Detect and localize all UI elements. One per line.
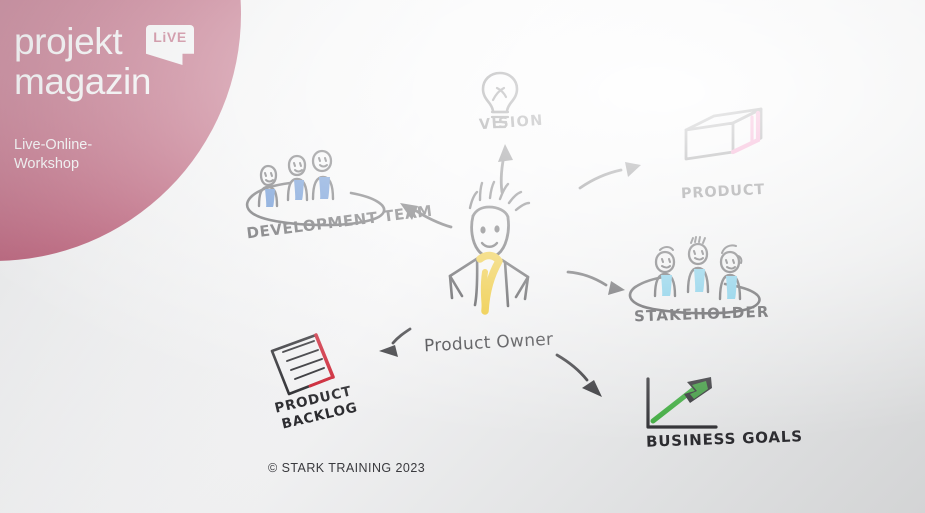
- arrow-to-stakeholder: [568, 272, 625, 295]
- product-cube-icon: [686, 109, 761, 159]
- business-goals-icon: [648, 377, 716, 427]
- slide-canvas: projekt magazin LiVE Live-Online- Worksh…: [0, 0, 925, 513]
- arrow-to-business-goals: [557, 355, 602, 397]
- stakeholder-icon: [630, 237, 760, 313]
- copyright-notice: © STARK TRAINING 2023: [268, 461, 425, 475]
- product-owner-figure-icon: [450, 182, 529, 311]
- arrow-to-product-backlog: [379, 329, 410, 357]
- product-backlog-icon: [272, 335, 333, 394]
- arrow-to-product: [580, 162, 641, 188]
- arrow-to-vision: [498, 144, 513, 192]
